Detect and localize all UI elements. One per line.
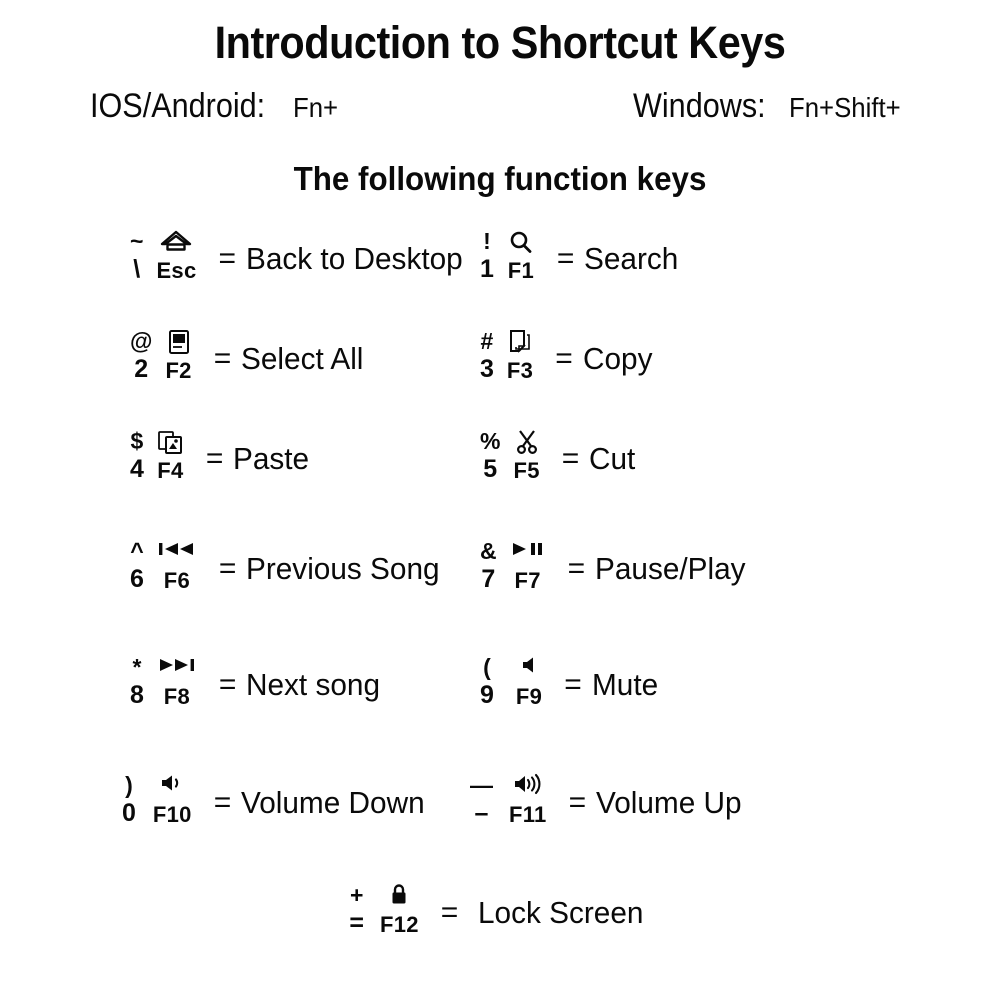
shortcut-description: Mute [592,667,658,703]
mute-icon [519,655,539,683]
shortcut-entry-f7: & 7 F7 = Pause/Play [440,538,900,592]
volume-up-icon [512,773,544,801]
shortcut-description: Select All [241,341,363,377]
key-upper-symbol: — [470,772,493,798]
equals-sign: = [564,668,582,702]
key-column-function: Esc [156,229,196,282]
key-column-modifier: & 7 [480,538,497,592]
shortcut-row: ^ 6 F6 = Previous Song & 7 [0,538,1000,638]
fn-key-label: F2 [165,360,191,382]
key-lower-symbol: 1 [480,257,494,282]
shortcut-row: ~ \ Esc = Back to Desktop ! 1 [0,228,1000,328]
fn-key-label: F12 [380,914,419,936]
shortcut-entry-esc: ~ \ Esc = Back to Desktop [0,228,440,282]
equals-sign: = [214,786,232,820]
shortcut-description: Pause/Play [595,551,746,587]
platform-combos: IOS/Android: Fn+ Windows: Fn+Shift+ [0,87,1000,126]
select-all-icon [167,329,191,357]
shortcut-entry-f10: ) 0 F10 = Volume Down [0,772,440,826]
key-column-function: F6 [157,539,197,592]
section-heading: The following function keys [25,126,975,198]
key-upper-symbol: ) [125,772,133,798]
platform-windows-label: Windows: [633,87,766,126]
key-column-function: F12 [380,883,419,936]
equals-sign: = [569,786,587,820]
shortcut-entry-f4: $ 4 F4 = Paste [0,428,440,482]
fn-key-label: F11 [509,804,547,826]
key-column-function: F5 [513,429,539,482]
key-column-modifier: ^ 6 [130,538,144,592]
shortcut-row: $ 4 F4 = Paste % 5 [0,428,1000,528]
shortcut-description: Previous Song [246,551,440,587]
key-column-modifier: $ 4 [130,428,144,482]
volume-down-icon [159,773,186,801]
equals-sign: = [214,342,232,376]
shortcut-entry-f2: @ 2 F2 = Select All [0,328,440,382]
shortcut-description: Paste [233,441,309,477]
key-lower-symbol: 6 [130,567,144,592]
shortcut-row: @ 2 F2 = Select All # 3 [0,328,1000,428]
key-upper-symbol: + [350,882,363,908]
shortcut-entry-f8: * 8 F8 = Next song [0,654,440,708]
key-column-modifier: # 3 [480,328,494,382]
key-lower-symbol: 8 [130,683,144,708]
key-lower-symbol: 3 [480,357,494,382]
equals-sign: = [557,242,575,276]
key-upper-symbol: $ [131,428,144,454]
key-upper-symbol: ( [483,654,491,680]
key-pair: ) 0 F10 [122,772,192,826]
key-pair: + = F12 [349,882,418,936]
equals-sign: = [206,442,224,476]
key-pair: ^ 6 F6 [130,538,197,592]
fn-key-label: F5 [513,460,539,482]
key-pair: & 7 F7 [480,538,546,592]
shortcut-description: Back to Desktop [246,241,463,277]
key-lower-symbol: \ [133,257,140,282]
key-column-modifier: * 8 [130,654,144,708]
shortcut-description: Search [584,241,678,277]
shortcut-row: ) 0 F10 = Volume Down — – [0,772,1000,872]
page-title: Introduction to Shortcut Keys [40,0,960,65]
shortcut-grid: ~ \ Esc = Back to Desktop ! 1 [0,228,1000,982]
key-column-function: F9 [516,655,542,708]
key-pair: ! 1 F1 [480,228,535,282]
key-pair: % 5 F5 [480,428,540,482]
key-column-modifier: — – [470,772,493,826]
key-column-modifier: @ 2 [130,328,152,382]
key-lower-symbol: 5 [483,457,497,482]
next-track-icon [157,655,197,683]
fn-key-label: F1 [508,260,534,282]
key-column-modifier: ( 9 [480,654,494,708]
shortcut-entry-f9: ( 9 F9 = Mute [440,654,900,708]
key-column-function: F11 [509,773,547,826]
shortcut-row: + = F12 = Lock Screen [0,882,1000,982]
equals-sign: = [555,342,573,376]
shortcut-row: * 8 F8 = Next song ( 9 [0,654,1000,754]
shortcut-description: Copy [583,341,652,377]
key-column-modifier: ) 0 [122,772,136,826]
fn-key-label: Esc [156,260,196,282]
shortcut-description: Cut [589,441,635,477]
key-lower-symbol: 2 [134,357,148,382]
key-lower-symbol: 4 [130,457,144,482]
shortcut-entry-f11: — – F11 = Volume Up [440,772,900,826]
fn-key-label: F10 [153,804,192,826]
copy-icon [507,329,533,357]
key-column-function: F8 [157,655,197,708]
play-pause-icon [510,539,546,567]
key-column-function: F4 [157,429,184,482]
scissors-icon [515,429,539,457]
equals-sign: = [219,552,237,586]
key-lower-symbol: = [349,911,364,936]
platform-windows: Windows: Fn+Shift+ [633,87,910,126]
shortcut-entry-f1: ! 1 F1 = Search [440,228,900,282]
key-column-function: F10 [153,773,192,826]
key-pair: @ 2 F2 [130,328,192,382]
shortcut-entry-f6: ^ 6 F6 = Previous Song [0,538,440,592]
key-pair: # 3 F3 [480,328,533,382]
key-upper-symbol: # [481,328,494,354]
key-column-modifier: ~ \ [130,228,143,282]
shortcut-description: Lock Screen [478,895,643,931]
key-upper-symbol: ^ [130,538,143,564]
key-column-function: F7 [510,539,546,592]
key-lower-symbol: 0 [122,801,136,826]
key-column-function: F3 [507,329,533,382]
platform-ios-android-combo: Fn+ [293,92,338,124]
shortcut-entry-f12: + = F12 = Lock Screen [349,882,650,936]
key-column-modifier: ! 1 [480,228,494,282]
fn-key-label: F7 [514,570,540,592]
key-upper-symbol: & [480,538,497,564]
home-icon [159,229,193,257]
search-icon [507,229,535,257]
key-lower-symbol: – [475,801,489,826]
platform-windows-combo: Fn+Shift+ [789,92,901,124]
key-column-function: F2 [165,329,191,382]
key-column-modifier: % 5 [480,428,500,482]
key-upper-symbol: ! [483,228,491,254]
platform-ios-android-label: IOS/Android: [90,87,265,126]
equals-sign: = [219,668,237,702]
fn-key-label: F9 [516,686,542,708]
platform-ios-android: IOS/Android: Fn+ [90,87,342,126]
fn-key-label: F3 [507,360,533,382]
lock-icon [389,883,409,911]
fn-key-label: F6 [164,570,190,592]
shortcut-entry-f5: % 5 F5 = Cut [440,428,900,482]
key-column-function: F1 [507,229,535,282]
previous-track-icon [157,539,197,567]
shortcut-entry-f3: # 3 F3 = Copy [440,328,900,382]
key-upper-symbol: ~ [130,228,143,254]
shortcut-description: Volume Up [596,785,742,821]
equals-sign: = [562,442,580,476]
key-upper-symbol: @ [130,328,152,354]
key-column-modifier: + = [349,882,364,936]
key-lower-symbol: 9 [480,683,494,708]
key-pair: ( 9 F9 [480,654,542,708]
key-pair: * 8 F8 [130,654,197,708]
key-pair: $ 4 F4 [130,428,184,482]
shortcut-description: Next song [246,667,380,703]
fn-key-label: F8 [164,686,190,708]
equals-sign: = [568,552,586,586]
key-pair: — – F11 [470,772,547,826]
key-lower-symbol: 7 [481,567,495,592]
equals-sign: = [441,896,459,930]
equals-sign: = [218,242,236,276]
key-pair: ~ \ Esc [130,228,196,282]
fn-key-label: F4 [157,460,183,482]
shortcut-description: Volume Down [241,785,425,821]
key-upper-symbol: * [132,654,141,680]
key-upper-symbol: % [480,428,500,454]
paste-icon [157,429,184,457]
